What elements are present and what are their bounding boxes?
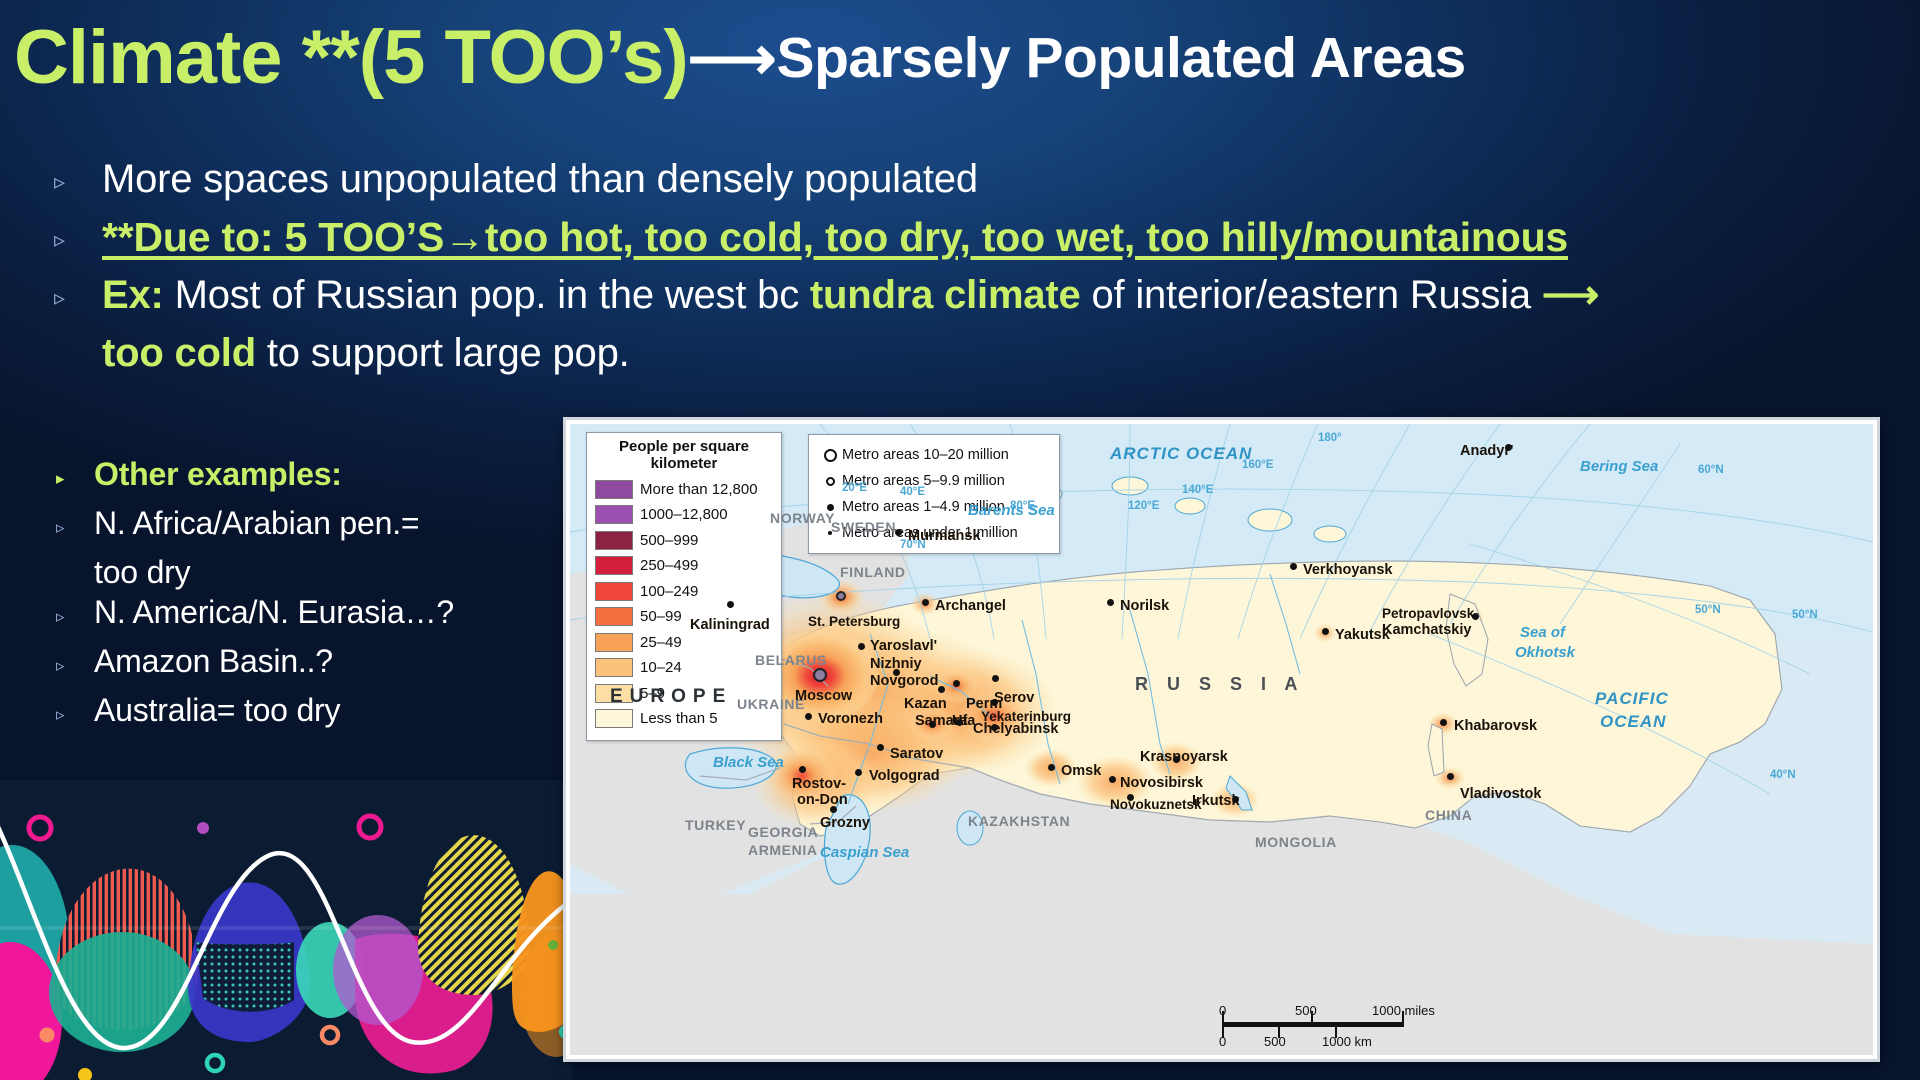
map-city-dot	[956, 719, 963, 726]
legend-color-swatch	[595, 607, 633, 626]
legend-row: 500–999	[595, 528, 773, 554]
bullet-marker-icon: ▹	[46, 593, 94, 641]
decorative-wave-graphic	[0, 780, 572, 1080]
map-city-dot	[1109, 776, 1116, 783]
map-city-dot	[805, 713, 812, 720]
bullet-marker-icon: ▹	[40, 154, 102, 210]
list-item-label: N. Africa/Arabian pen.=	[94, 504, 419, 543]
wave-artwork-svg	[0, 780, 572, 1080]
legend-row: Metro areas 5–9.9 million	[818, 468, 1050, 494]
legend-label: Metro areas 5–9.9 million	[842, 473, 1005, 489]
map-city-dot	[1322, 628, 1329, 635]
map-city-dot	[1232, 796, 1239, 803]
legend-color-swatch	[595, 582, 633, 601]
legend-row: 100–249	[595, 579, 773, 605]
legend-label: Metro areas under 1 million	[842, 525, 1018, 541]
legend-label: 100–249	[640, 583, 698, 600]
legend-row: 10–24	[595, 655, 773, 681]
title-sub: Sparsely Populated Areas	[777, 26, 1466, 90]
legend-label: Metro areas 10–20 million	[842, 447, 1009, 463]
scale-km-end: 1000 km	[1322, 1034, 1372, 1049]
list-item: ▹ Amazon Basin..?	[46, 642, 476, 690]
other-examples-list: ▸ Other examples: ▹ N. Africa/Arabian pe…	[46, 455, 476, 740]
bullet-run-highlight: too cold	[102, 331, 256, 375]
legend-label: 250–499	[640, 557, 698, 574]
bullet-run-highlight: Ex:	[102, 273, 164, 317]
bullet-text: Ex: Most of Russian pop. in the west bc …	[102, 270, 1599, 320]
scale-line	[1222, 1022, 1404, 1027]
legend-label: 500–999	[640, 532, 698, 549]
list-item-label: Amazon Basin..?	[94, 642, 333, 681]
map-city-dot	[922, 599, 929, 606]
bullet-run-highlight: tundra climate	[810, 273, 1081, 317]
map-city-dot	[895, 529, 902, 536]
legend-label: Less than 5	[640, 710, 718, 727]
legend-title: People per square kilometer	[595, 439, 773, 473]
map-city-dot	[836, 591, 846, 601]
map-city-dot	[858, 643, 865, 650]
map-city-dot	[877, 744, 884, 751]
title-main: Climate **(5 TOO’s)	[14, 15, 688, 100]
list-item: ▹ N. America/N. Eurasia…?	[46, 593, 476, 641]
bullet-run: to support large pop.	[256, 331, 630, 375]
legend-entries: More than 12,8001000–12,800500–999250–49…	[595, 477, 773, 732]
map-canvas: People per square kilometer More than 12…	[570, 424, 1873, 1055]
legend-row: Less than 5	[595, 706, 773, 732]
list-item-label: N. America/N. Eurasia…?	[94, 593, 454, 632]
legend-label: 5–9	[640, 685, 665, 702]
map-city-dot	[991, 724, 998, 731]
legend-label: 25–49	[640, 634, 682, 651]
map-city-dot	[991, 699, 998, 706]
bullet-run: of interior/eastern Russia	[1081, 273, 1542, 317]
bullet-row: ▹ **Due to: 5 TOO’S→too hot, too cold, t…	[40, 212, 1850, 268]
map-city-dot	[855, 769, 862, 776]
bullet-marker-icon: ▹	[46, 691, 94, 739]
map-city-dot	[1107, 599, 1114, 606]
page-title: Climate **(5 TOO’s)⟶Sparsely Populated A…	[14, 18, 1904, 98]
scale-km-mid: 500	[1264, 1034, 1286, 1049]
legend-row: Metro areas 10–20 million	[818, 442, 1050, 468]
bullet-row-continuation: too cold to support large pop.	[40, 328, 1850, 378]
map-city-dot	[1447, 773, 1454, 780]
list-item-label: too dry	[94, 553, 190, 592]
bullet-text: **Due to: 5 TOO’S→too hot, too cold, too…	[102, 212, 1568, 264]
legend-row: 25–49	[595, 630, 773, 656]
map-city-dot	[1505, 444, 1512, 451]
map-city-dot	[992, 675, 999, 682]
scale-km-start: 0	[1219, 1034, 1226, 1049]
list-item: ▹ Australia= too dry	[46, 691, 476, 739]
metro-symbol-icon	[818, 504, 842, 511]
bullet-row: ▹ More spaces unpopulated than densely p…	[40, 154, 1850, 210]
list-item-label: Other examples:	[94, 455, 342, 494]
bullet-run-highlight: **Due to: 5 TOO’S→too hot, too cold, too…	[102, 214, 1568, 260]
scale-miles-mid: 500	[1295, 1003, 1317, 1018]
legend-color-swatch	[595, 505, 633, 524]
map-city-dot	[1048, 764, 1055, 771]
bullet-text: too cold to support large pop.	[102, 328, 630, 378]
legend-color-swatch	[595, 709, 633, 728]
list-item-label: Australia= too dry	[94, 691, 340, 730]
legend-row: 5–9	[595, 681, 773, 707]
population-density-map[interactable]: People per square kilometer More than 12…	[563, 417, 1880, 1062]
legend-row: 1000–12,800	[595, 502, 773, 528]
map-city-dot	[830, 806, 837, 813]
legend-row: Metro areas 1–4.9 million	[818, 494, 1050, 520]
legend-entries: Metro areas 10–20 millionMetro areas 5–9…	[818, 442, 1050, 546]
metro-symbol-icon	[818, 531, 842, 536]
legend-label: More than 12,800	[640, 481, 758, 498]
list-item: ▸ Other examples:	[46, 455, 476, 503]
metro-symbol-icon	[818, 449, 842, 462]
bullet-run: Most of Russian pop. in the west bc	[164, 273, 810, 317]
bullet-row: ▹ Ex: Most of Russian pop. in the west b…	[40, 270, 1850, 326]
legend-row: Metro areas under 1 million	[818, 520, 1050, 546]
legend-color-swatch	[595, 633, 633, 652]
map-city-dot	[929, 721, 936, 728]
list-item: ▹ N. Africa/Arabian pen.=	[46, 504, 476, 552]
bullet-marker-icon: ▹	[46, 642, 94, 690]
legend-label: 50–99	[640, 608, 682, 625]
map-city-dot	[799, 766, 806, 773]
legend-color-swatch	[595, 480, 633, 499]
legend-population-density: People per square kilometer More than 12…	[586, 432, 782, 741]
list-item-continuation: too dry	[46, 553, 476, 592]
legend-label: Metro areas 1–4.9 million	[842, 499, 1005, 515]
map-city-dot	[938, 686, 945, 693]
map-city-dot	[1127, 794, 1134, 801]
bullet-run-arrow-icon: ⟶	[1542, 273, 1599, 317]
bullet-text: More spaces unpopulated than densely pop…	[102, 154, 978, 204]
legend-color-swatch	[595, 531, 633, 550]
metro-symbol-icon	[818, 477, 842, 486]
map-city-dot	[1472, 613, 1479, 620]
legend-row: More than 12,800	[595, 477, 773, 503]
map-city-dot	[953, 680, 960, 687]
map-city-dot	[813, 668, 827, 682]
legend-row: 250–499	[595, 553, 773, 579]
bullet-marker-icon: ▸	[46, 455, 94, 503]
legend-label: 1000–12,800	[640, 506, 728, 523]
map-scale-bar: 0 500 1000 miles 0 500 1000 km	[1222, 1022, 1404, 1027]
map-city-dot	[727, 601, 734, 608]
bullet-run: More spaces unpopulated than densely pop…	[102, 157, 978, 201]
legend-color-swatch	[595, 684, 633, 703]
legend-label: 10–24	[640, 659, 682, 676]
title-arrow-icon: ⟶	[688, 24, 777, 93]
bullet-marker-icon: ▹	[46, 504, 94, 552]
slide-canvas: Climate **(5 TOO’s)⟶Sparsely Populated A…	[0, 0, 1920, 1080]
legend-row: 50–99	[595, 604, 773, 630]
bullet-marker-icon: ▹	[40, 270, 102, 326]
map-city-dot	[1290, 563, 1297, 570]
main-bullet-list: ▹ More spaces unpopulated than densely p…	[40, 154, 1850, 380]
bullet-marker-icon: ▹	[40, 212, 102, 268]
map-city-dot	[893, 669, 900, 676]
map-city-dot	[1440, 719, 1447, 726]
legend-metro-areas: Metro areas 10–20 millionMetro areas 5–9…	[808, 434, 1060, 554]
map-city-dot	[1173, 756, 1180, 763]
legend-color-swatch	[595, 658, 633, 677]
legend-color-swatch	[595, 556, 633, 575]
